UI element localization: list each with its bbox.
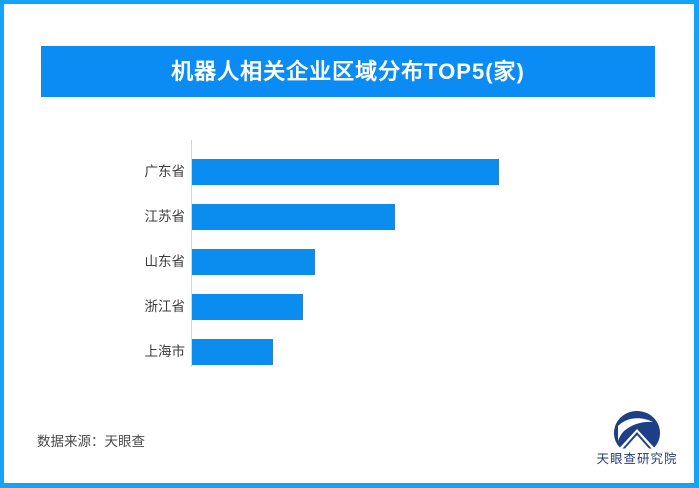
bar-row: 广东省 <box>129 150 649 194</box>
page-title: 机器人相关企业区域分布TOP5(家) <box>171 61 525 83</box>
infographic-card: 机器人相关企业区域分布TOP5(家) 广东省 江苏省 <box>0 0 699 488</box>
bar-row: 浙江省 <box>129 285 649 329</box>
bar-track <box>192 204 395 230</box>
bar-fill <box>192 294 303 320</box>
card-inner: 机器人相关企业区域分布TOP5(家) 广东省 江苏省 <box>4 4 694 483</box>
bar-category-label: 上海市 <box>129 345 185 359</box>
bar-track <box>192 339 273 365</box>
bar-fill <box>192 249 315 275</box>
bar-chart-plot: 广东省 江苏省 山东省 <box>129 134 649 370</box>
bar-fill <box>192 339 273 365</box>
bar-category-label: 山东省 <box>129 255 185 269</box>
chart-title-banner: 机器人相关企业区域分布TOP5(家) <box>41 46 655 97</box>
bar-track <box>192 294 303 320</box>
bar-track <box>192 159 499 185</box>
brand-logo-name: 天眼查研究院 <box>582 453 692 466</box>
bar-row: 江苏省 <box>129 195 649 239</box>
bar-category-label: 广东省 <box>129 165 185 179</box>
bar-row: 山东省 <box>129 240 649 284</box>
bar-row: 上海市 <box>129 330 649 374</box>
bar-category-label: 浙江省 <box>129 300 185 314</box>
bar-fill <box>192 159 499 185</box>
bar-fill <box>192 204 395 230</box>
tianyancha-eye-dome-logo-icon <box>612 409 662 451</box>
bar-track <box>192 249 315 275</box>
data-source-note: 数据来源：天眼查 <box>37 435 145 449</box>
chart-area: 广东省 江苏省 山东省 <box>4 134 699 374</box>
bar-category-label: 江苏省 <box>129 210 185 224</box>
brand-logo: 天眼查研究院 <box>582 409 692 473</box>
